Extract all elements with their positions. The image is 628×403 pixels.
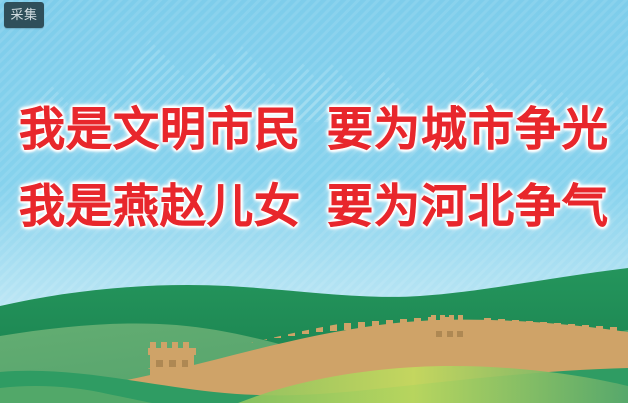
watchtower-right [429,315,471,368]
screenshot-root: 我是文明市民 要为城市争光 我是燕赵儿女 要为河北争气 采集 [0,0,628,403]
poster-image [0,0,628,403]
capture-button[interactable]: 采集 [4,2,44,28]
